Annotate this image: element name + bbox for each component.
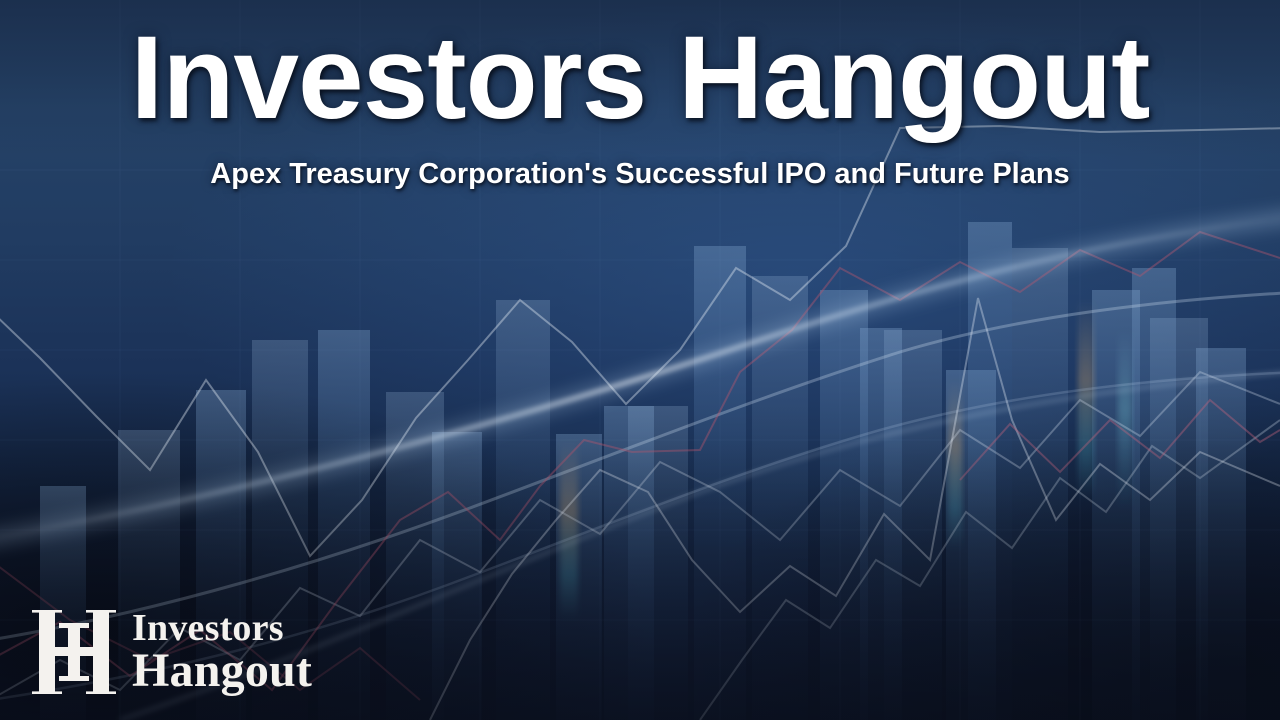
logo-line-1: Investors bbox=[132, 610, 312, 646]
page-subtitle: Apex Treasury Corporation's Successful I… bbox=[0, 141, 1280, 192]
banner: Investors Hangout Apex Treasury Corporat… bbox=[0, 0, 1280, 720]
logo-line-2: Hangout bbox=[132, 648, 312, 694]
logo-wordmark: Investors Hangout bbox=[132, 610, 312, 694]
logo[interactable]: Investors Hangout bbox=[26, 600, 312, 704]
title-block: Investors Hangout Apex Treasury Corporat… bbox=[0, 0, 1280, 192]
page-title: Investors Hangout bbox=[0, 0, 1280, 141]
ih-monogram-icon bbox=[26, 600, 122, 704]
